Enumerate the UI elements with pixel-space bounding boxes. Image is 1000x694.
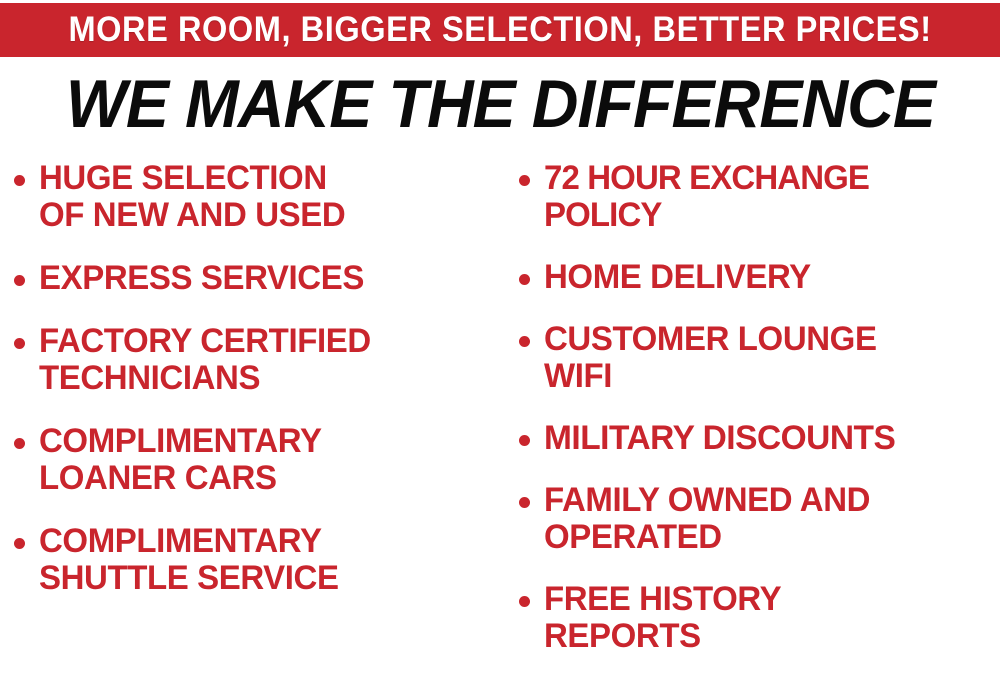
list-item-label: FREE HISTORY REPORTS bbox=[544, 581, 781, 655]
page-title-text: WE MAKE THE DIFFERENCE bbox=[65, 69, 934, 139]
bullet-dot-icon bbox=[14, 438, 25, 449]
list-item: FACTORY CERTIFIED TECHNICIANS bbox=[14, 323, 506, 397]
list-item-label: COMPLIMENTARY LOANER CARS bbox=[39, 423, 322, 497]
bullet-dot-icon bbox=[14, 538, 25, 549]
list-item-label: 72 HOUR EXCHANGE POLICY bbox=[544, 160, 869, 234]
promo-banner: MORE ROOM, BIGGER SELECTION, BETTER PRIC… bbox=[0, 3, 1000, 57]
page-title: WE MAKE THE DIFFERENCE bbox=[0, 69, 1000, 139]
bullet-dot-icon bbox=[519, 435, 530, 446]
bullet-dot-icon bbox=[519, 596, 530, 607]
list-item-label: HUGE SELECTION OF NEW AND USED bbox=[39, 160, 345, 234]
list-item-label: FAMILY OWNED AND OPERATED bbox=[544, 482, 870, 556]
list-item: CUSTOMER LOUNGE WIFI bbox=[519, 321, 1000, 395]
list-item-label: FACTORY CERTIFIED TECHNICIANS bbox=[39, 323, 371, 397]
list-item: HOME DELIVERY bbox=[519, 259, 1000, 296]
list-item: HUGE SELECTION OF NEW AND USED bbox=[14, 160, 506, 234]
list-item: MILITARY DISCOUNTS bbox=[519, 420, 1000, 457]
bullet-dot-icon bbox=[519, 175, 530, 186]
list-item: EXPRESS SERVICES bbox=[14, 260, 506, 297]
list-item-label: COMPLIMENTARY SHUTTLE SERVICE bbox=[39, 523, 339, 597]
list-item: FAMILY OWNED AND OPERATED bbox=[519, 482, 1000, 556]
list-item-label: CUSTOMER LOUNGE WIFI bbox=[544, 321, 877, 395]
list-item: 72 HOUR EXCHANGE POLICY bbox=[519, 160, 1000, 234]
promo-banner-text: MORE ROOM, BIGGER SELECTION, BETTER PRIC… bbox=[68, 12, 931, 48]
benefits-column-left: HUGE SELECTION OF NEW AND USED EXPRESS S… bbox=[14, 160, 506, 623]
list-item: FREE HISTORY REPORTS bbox=[519, 581, 1000, 655]
list-item-label: HOME DELIVERY bbox=[544, 259, 811, 296]
bullet-dot-icon bbox=[519, 336, 530, 347]
list-item-label: MILITARY DISCOUNTS bbox=[544, 420, 895, 457]
benefits-columns: HUGE SELECTION OF NEW AND USED EXPRESS S… bbox=[0, 160, 1000, 694]
bullet-dot-icon bbox=[519, 497, 530, 508]
bullet-dot-icon bbox=[14, 175, 25, 186]
list-item: COMPLIMENTARY SHUTTLE SERVICE bbox=[14, 523, 506, 597]
list-item: COMPLIMENTARY LOANER CARS bbox=[14, 423, 506, 497]
list-item-label: EXPRESS SERVICES bbox=[39, 260, 364, 297]
benefits-column-right: 72 HOUR EXCHANGE POLICY HOME DELIVERY CU… bbox=[519, 160, 1000, 680]
bullet-dot-icon bbox=[14, 275, 25, 286]
bullet-dot-icon bbox=[14, 338, 25, 349]
bullet-dot-icon bbox=[519, 274, 530, 285]
